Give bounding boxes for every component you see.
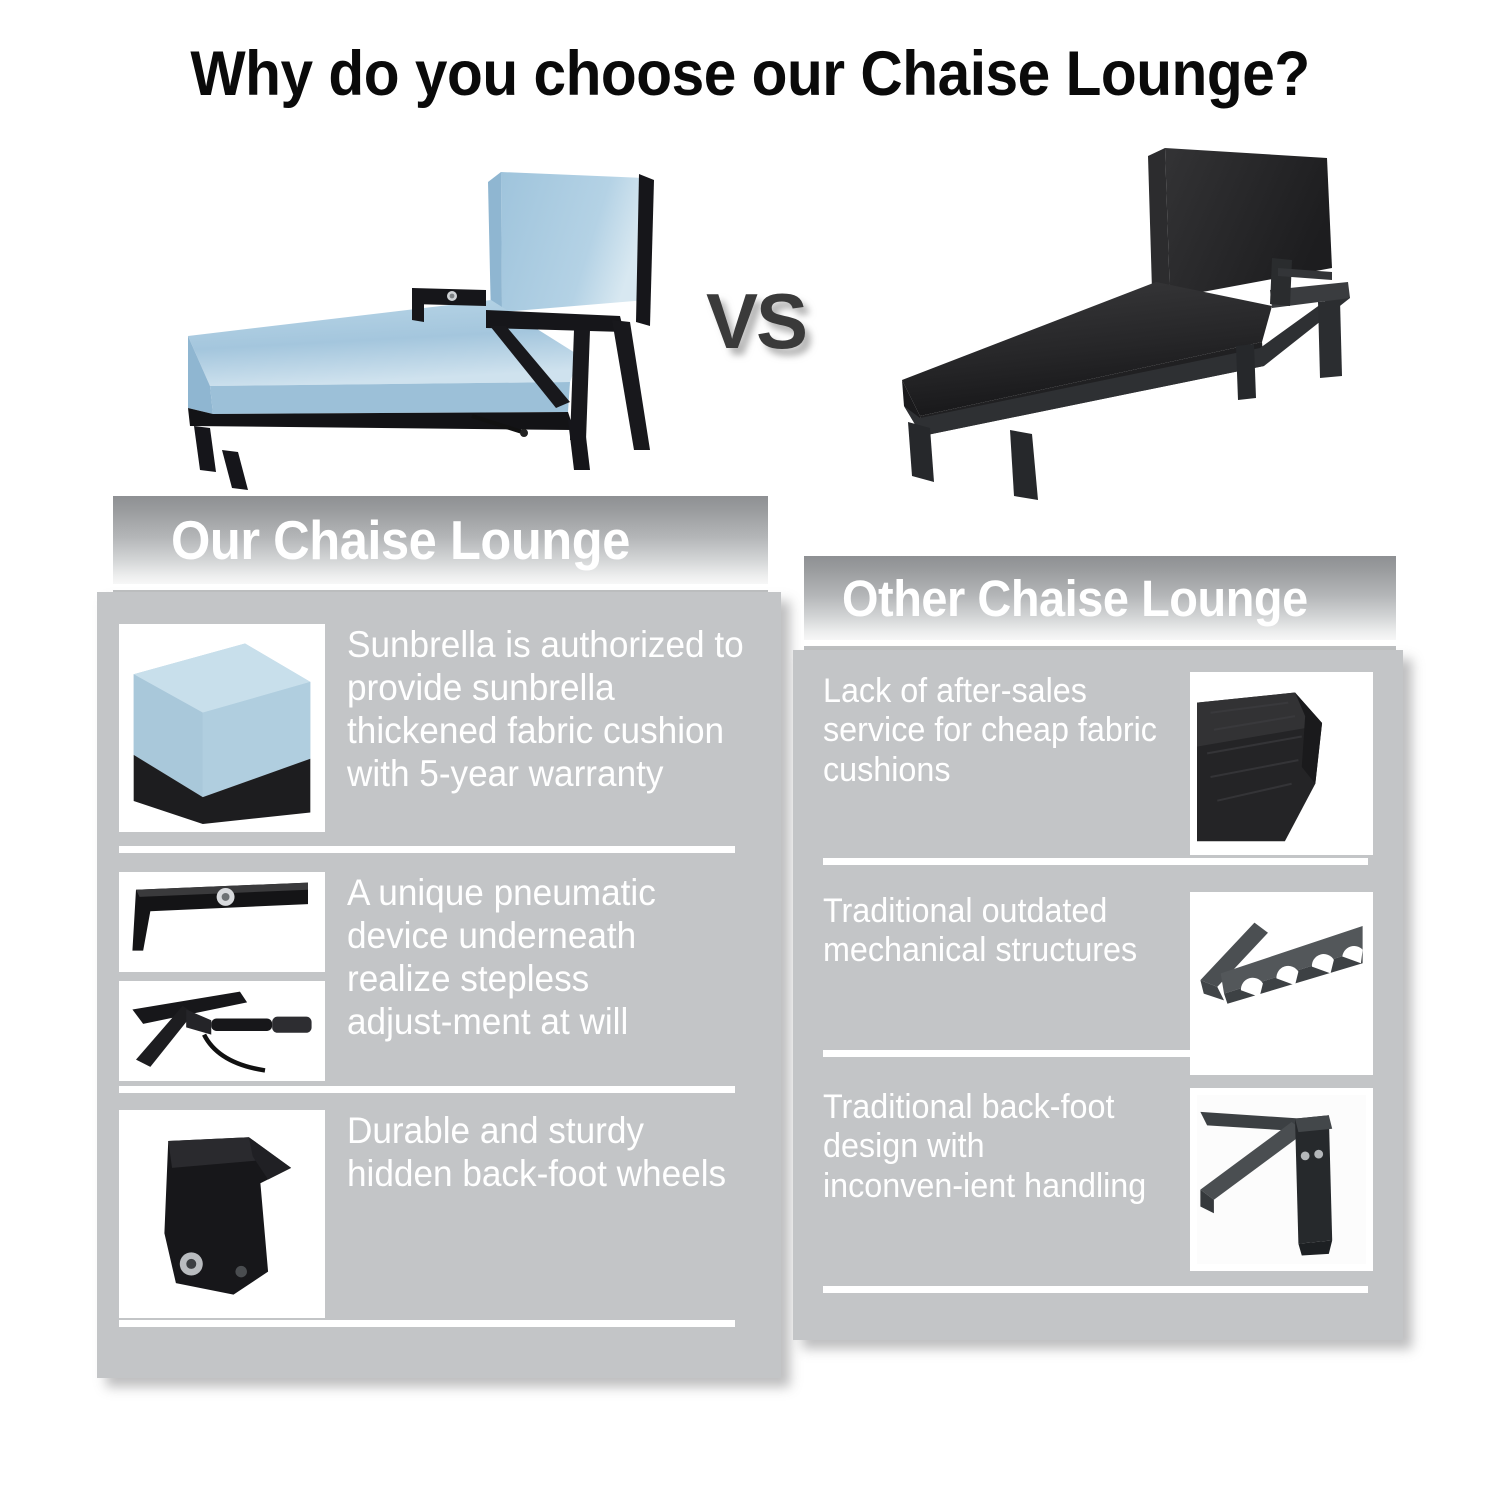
divider — [823, 1286, 1368, 1293]
feature-text: Durable and sturdy hidden back-foot whee… — [347, 1110, 746, 1196]
hero-image-our-chaise — [150, 150, 680, 495]
feature-panel-other-chaise: Lack of after-sales service for cheap fa… — [793, 650, 1403, 1340]
feature-row: Durable and sturdy hidden back-foot whee… — [119, 1110, 767, 1318]
banner-other-label: Other Chaise Lounge — [842, 569, 1308, 628]
divider — [119, 846, 735, 853]
feature-text: Traditional outdated mechanical structur… — [823, 892, 1160, 971]
thumbnail-traditional-back-foot-leg — [1190, 1088, 1373, 1271]
feature-row: Traditional outdated mechanical structur… — [823, 892, 1373, 1075]
divider — [119, 1320, 735, 1327]
feature-text: Traditional back-foot design with inconv… — [823, 1088, 1160, 1206]
feature-text: A unique pneumatic device underneath rea… — [347, 872, 746, 1044]
hero-image-other-chaise — [880, 130, 1385, 510]
feature-row: Sunbrella is authorized to provide sunbr… — [119, 624, 767, 832]
feature-text: Sunbrella is authorized to provide sunbr… — [347, 624, 746, 796]
divider — [119, 1086, 735, 1093]
feature-row: Traditional back-foot design with inconv… — [823, 1088, 1373, 1271]
vs-label: VS — [706, 276, 806, 367]
feature-row: Lack of after-sales service for cheap fa… — [823, 672, 1373, 855]
feature-panel-our-chaise: Sunbrella is authorized to provide sunbr… — [97, 592, 781, 1378]
thumbnail-blue-cushion-corner — [119, 624, 325, 832]
thumbnail-ratchet-notch-bar — [1190, 892, 1373, 1075]
banner-other-chaise-lounge: Other Chaise Lounge — [804, 556, 1396, 640]
feature-row: A unique pneumatic device underneath rea… — [119, 872, 767, 1081]
page-title: Why do you choose our Chaise Lounge? — [53, 38, 1448, 110]
thumbnail-pneumatic-cylinder — [119, 981, 325, 1081]
thumbnail-stack — [119, 872, 325, 1081]
banner-our-label: Our Chaise Lounge — [171, 508, 630, 572]
thumbnail-frame-pivot-bolt — [119, 872, 325, 972]
divider — [823, 1050, 1368, 1057]
thumbnail-black-cushion-corner — [1190, 672, 1373, 855]
banner-our-chaise-lounge: Our Chaise Lounge — [113, 496, 768, 584]
divider — [823, 858, 1368, 865]
feature-text: Lack of after-sales service for cheap fa… — [823, 672, 1160, 790]
thumbnail-back-foot-wheel — [119, 1110, 325, 1318]
